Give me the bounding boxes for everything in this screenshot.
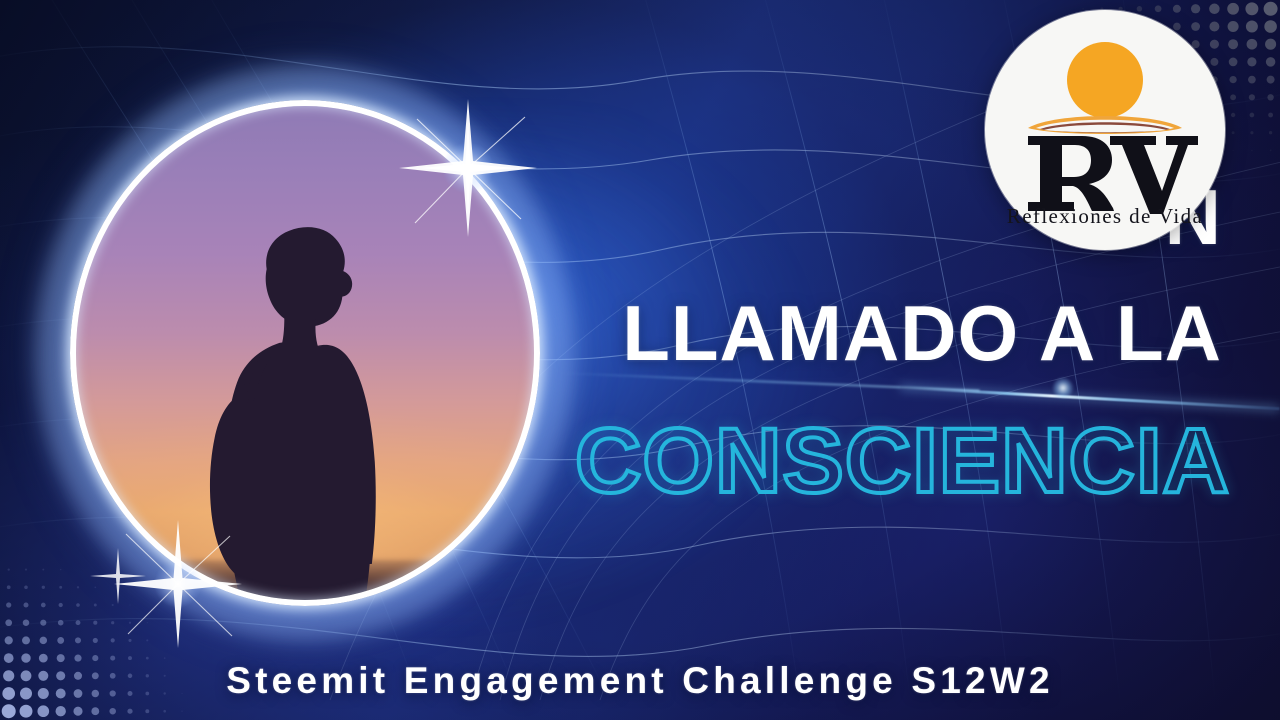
challenge-title: Steemit Engagement Challenge S12W2	[226, 660, 1053, 701]
logo-artwork	[1010, 36, 1200, 218]
poster-canvas: Reflexiones de Vida UN LLAMADO A LA CONS…	[0, 0, 1280, 720]
headline-text-consciencia: CONSCIENCIA	[575, 410, 1230, 512]
horizon-lines-icon	[1028, 116, 1182, 134]
logo-tagline: Reflexiones de Vida	[1007, 204, 1203, 229]
headline-text-llamado: LLAMADO A LA	[622, 289, 1222, 377]
headline-line-3: CONSCIENCIA	[50, 415, 1230, 507]
logo-monogram	[1028, 136, 1198, 214]
headline-line-2: LLAMADO A LA	[42, 294, 1222, 372]
sun-icon	[1067, 42, 1143, 118]
brand-logo[interactable]: Reflexiones de Vida	[985, 10, 1225, 250]
bottom-banner: Steemit Engagement Challenge S12W2	[0, 660, 1280, 702]
light-beam-flare	[1052, 377, 1074, 399]
